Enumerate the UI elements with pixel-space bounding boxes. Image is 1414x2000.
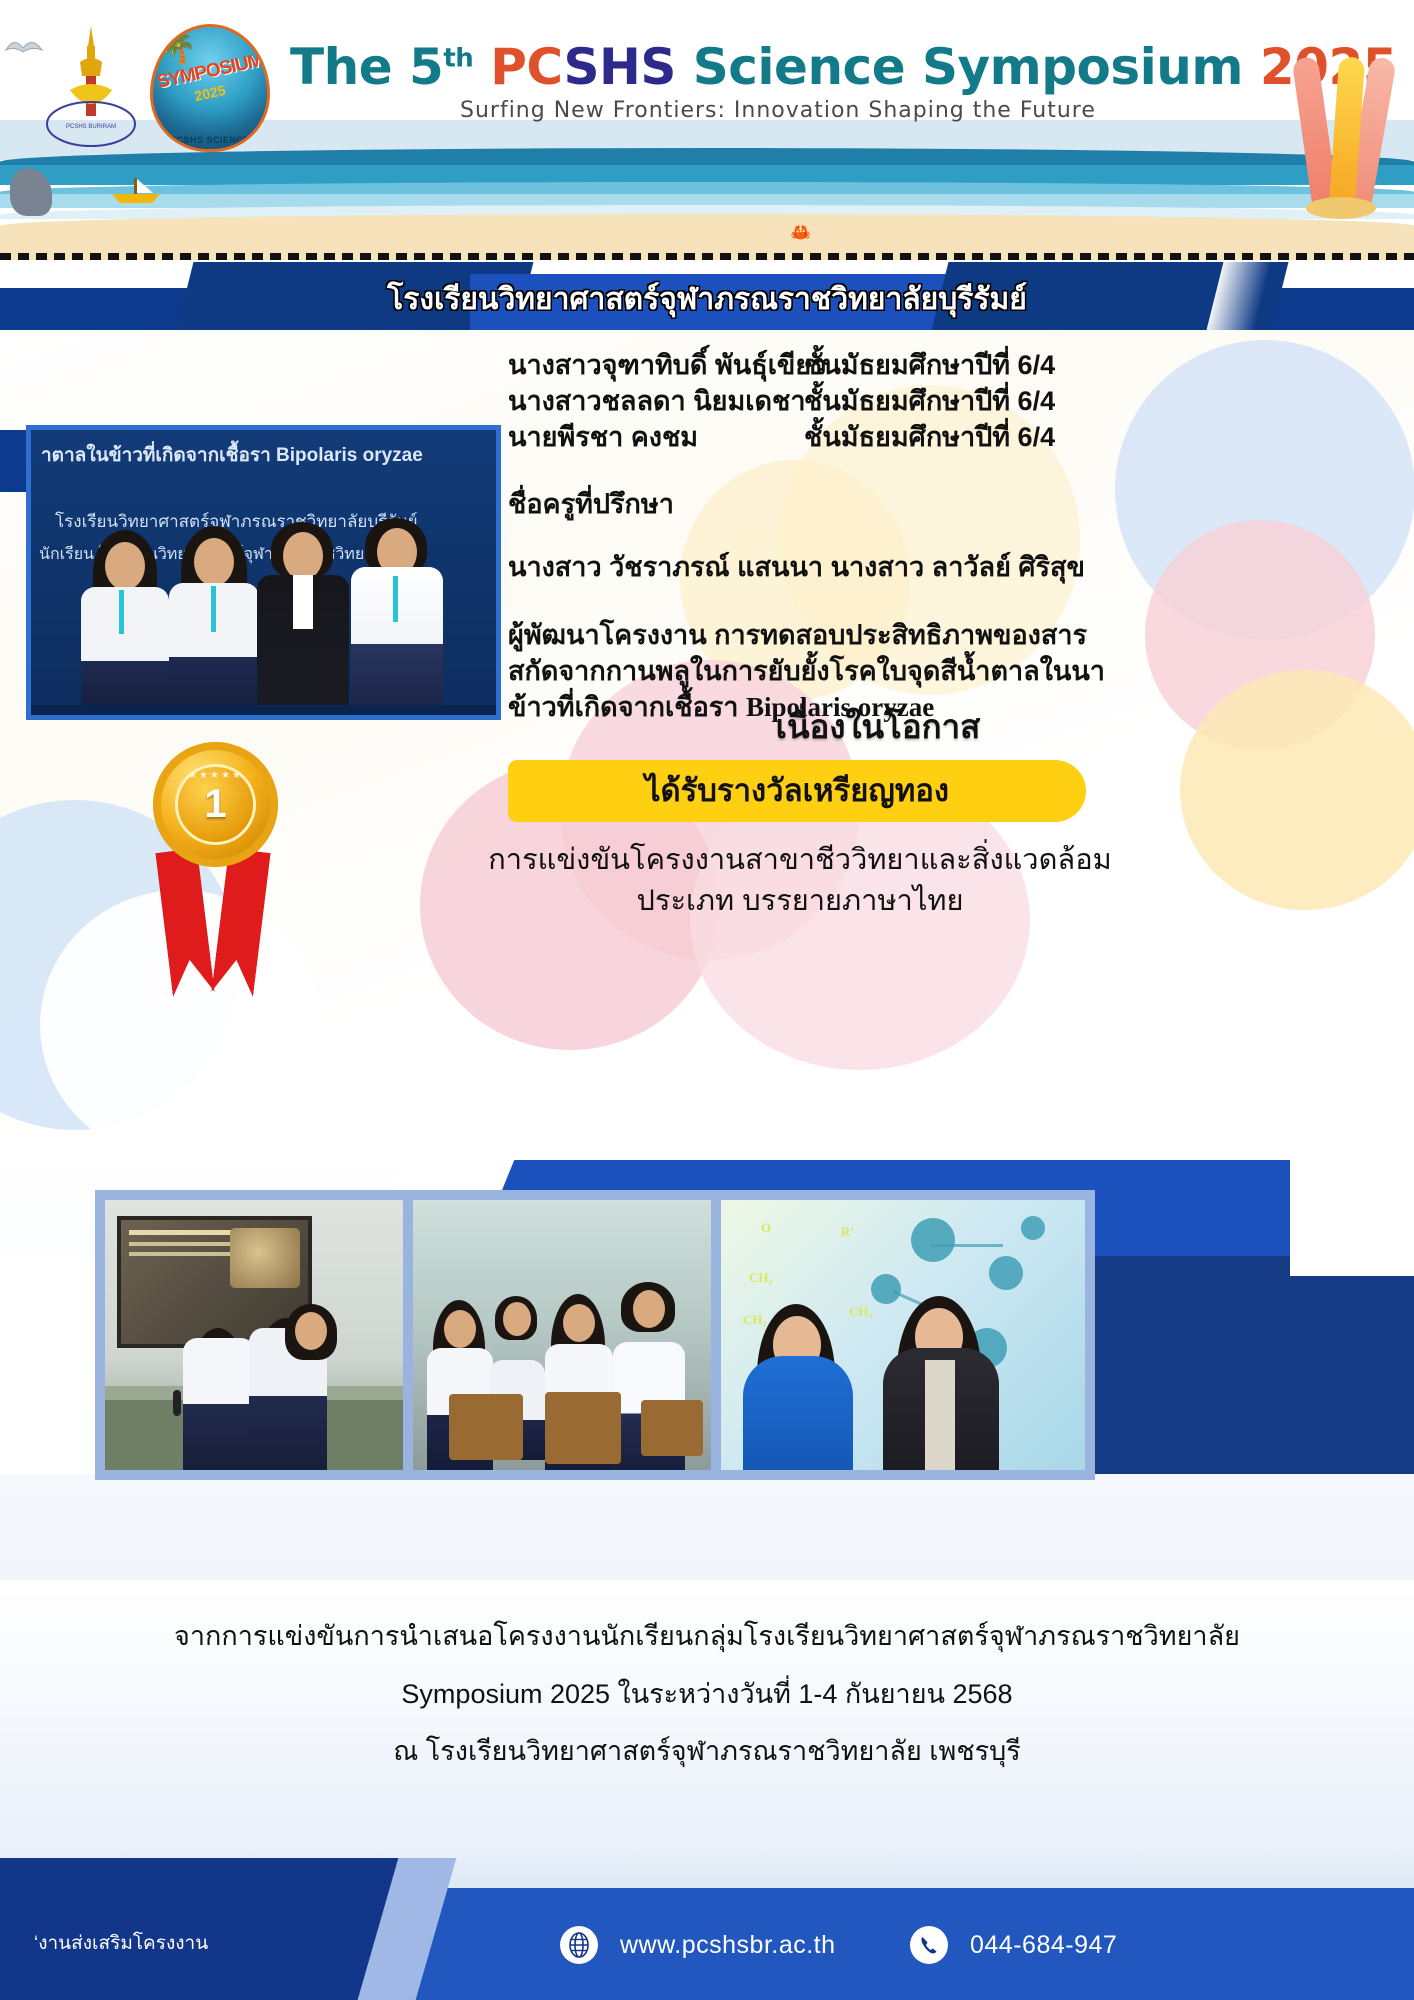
chem-label: CH₂ [749, 1270, 772, 1286]
classroom-desk-1 [449, 1394, 523, 1460]
classroom-desk-3 [641, 1400, 703, 1456]
caption-line-1: จากการแข่งขันการนำเสนอโครงงานนักเรียนกลุ… [0, 1622, 1414, 1652]
chem-label: O [761, 1220, 771, 1236]
molecule-node [989, 1256, 1023, 1290]
slide-text-line [129, 1252, 238, 1256]
contest-line-2: ประเภท บรรยายภาษาไทย [400, 881, 1200, 922]
molecule-bond [931, 1244, 1003, 1247]
team-photo-floor [31, 705, 496, 715]
chem-label: CH₃ [849, 1304, 872, 1320]
header-title-block: The 5th PCSHS Science Symposium 2025 Sur… [290, 38, 1190, 123]
footer-website-text: www.pcshsbr.ac.th [620, 1931, 836, 1960]
student-name: นายพีรชา คงชม [508, 420, 804, 456]
svg-text:PCSHS BURIRAM: PCSHS BURIRAM [66, 124, 116, 130]
crab-icon: 🦀 [790, 223, 811, 243]
globe-icon [560, 1926, 598, 1964]
header-tagline: Surfing New Frontiers: Innovation Shapin… [460, 98, 1190, 123]
student-grade: ชั้นมัธยมศึกษาปีที่ 6/4 [804, 420, 1055, 456]
royal-emblem-icon: PCSHS BURIRAM [36, 20, 146, 150]
footer-website[interactable]: www.pcshsbr.ac.th [560, 1926, 836, 1964]
student-grade: ชั้นมัธยมศึกษาปีที่ 6/4 [804, 384, 1055, 420]
header-banner: PCSHS BURIRAM 🌴 SYMPOSIUM 2025 PCSHS SCI… [0, 0, 1414, 260]
surfboard-sand-mound [1306, 197, 1376, 219]
gold-medal-banner: ได้รับรางวัลเหรียญทอง [508, 760, 1086, 822]
molecule-node [871, 1274, 901, 1304]
medal-ribbon-right [211, 848, 270, 997]
molecule-node [911, 1218, 955, 1262]
student-grade: ชั้นมัธยมศึกษาปีที่ 6/4 [804, 348, 1055, 384]
title-ordinal-suffix: th [443, 43, 473, 73]
surfboards-icon [1296, 44, 1386, 219]
classroom-desk-2 [545, 1392, 621, 1464]
project-line-2: สกัดจากกานพลูในการยับยั้งโรคใบจุดสีน้ำตา… [508, 654, 1148, 690]
molecule-node [1021, 1216, 1045, 1240]
team-photo: าตาลในข้าวที่เกิดจากเชื้อรา Bipolaris or… [26, 425, 501, 720]
caption-line-3: ณ โรงเรียนวิทยาศาสตร์จุฬาภรณราชวิทยาลัย … [0, 1737, 1414, 1767]
gold-medal-icon: 1 ★★★★★ [128, 742, 338, 1002]
advisor-names: นางสาว วัชราภรณ์ แสนนา นางสาว ลาวัลย์ ศิ… [508, 545, 1398, 588]
student-row: นางสาวชลลดา นิยมเดชา ชั้นมัธยมศึกษาปีที่… [508, 384, 1398, 420]
advisor-label: ชื่อครูที่ปรึกษา [508, 482, 1398, 525]
title-the5: The 5 [290, 38, 443, 96]
student-row: นางสาวจุฑาทิบดิ์ พันธุ์เขียว ชั้นมัธยมศึ… [508, 348, 1398, 384]
logo-bottom-text: PCSHS SCIENCE [153, 135, 267, 145]
footer: ‘งานส่งเสริมโครงงาน www.pcshsbr.ac.th 04… [0, 1848, 1414, 2000]
main-content-area: ขอแสดงความยินดี าตาลในข้าวที่เกิดจากเชื้… [0, 330, 1414, 1200]
footer-department-label: ‘งานส่งเสริมโครงงาน [34, 1928, 208, 1958]
main-title: The 5th PCSHS Science Symposium 2025 [290, 38, 1190, 96]
chem-label: R' [841, 1224, 854, 1240]
chem-label: CH₂ [743, 1312, 766, 1328]
title-science-symposium: Science Symposium [693, 38, 1243, 96]
congratulations-poster: PCSHS BURIRAM 🌴 SYMPOSIUM 2025 PCSHS SCI… [0, 0, 1414, 2000]
footer-phone-text: 044-684-947 [970, 1931, 1117, 1960]
student-name: นางสาวชลลดา นิยมเดชา [508, 384, 804, 420]
event-caption: จากการแข่งขันการนำเสนอโครงงานนักเรียนกลุ… [0, 1588, 1414, 1848]
slide-image [230, 1228, 300, 1288]
gallery-photo-teachers: O CH₂ CH₂ CH₃ CH₃ R' [711, 1190, 1095, 1480]
medal-ribbon-left [155, 848, 214, 997]
dashed-divider [0, 253, 1414, 260]
student-name: นางสาวจุฑาทิบดิ์ พันธุ์เขียว [508, 348, 804, 384]
photo-gallery-section: O CH₂ CH₂ CH₃ CH₃ R' [0, 1150, 1414, 1580]
boat-icon [108, 176, 164, 204]
student-row: นายพีรชา คงชม ชั้นมัธยมศึกษาปีที่ 6/4 [508, 420, 1398, 456]
contest-info: การแข่งขันโครงงานสาขาชีววิทยาและสิ่งแวดล… [400, 840, 1200, 922]
school-name-band: โรงเรียนวิทยาศาสตร์จุฬาภรณราชวิทยาลัยบุร… [0, 262, 1414, 330]
title-pc: PC [490, 38, 563, 96]
title-shs: SHS [563, 38, 675, 96]
school-name: โรงเรียนวิทยาศาสตร์จุฬาภรณราชวิทยาลัยบุร… [0, 276, 1414, 323]
details-column: นางสาวจุฑาทิบดิ์ พันธุ์เขียว ชั้นมัธยมศึ… [508, 348, 1398, 725]
project-line-1: ผู้พัฒนาโครงงาน การทดสอบประสิทธิภาพของสา… [508, 618, 1148, 654]
phone-icon [910, 1926, 948, 1964]
symposium-logo: 🌴 SYMPOSIUM 2025 PCSHS SCIENCE [150, 24, 270, 152]
caption-line-2: Symposium 2025 ในระหว่างวันที่ 1-4 กันยา… [0, 1680, 1414, 1710]
gold-medal-label: ได้รับรางวัลเหรียญทอง [508, 760, 1086, 822]
occasion-label: เนื่องในโอกาส [508, 700, 1248, 753]
medal-stars: ★★★★★ [175, 770, 256, 781]
teachers-photo: O CH₂ CH₂ CH₃ CH₃ R' [721, 1200, 1085, 1470]
backdrop-school-line: โรงเรียนวิทยาศาสตร์จุฬาภรณราชวิทยาลัยบุร… [55, 508, 418, 535]
palm-tree-icon: 🌴 [159, 31, 196, 66]
backdrop-title-line: าตาลในข้าวที่เกิดจากเชื้อรา Bipolaris or… [41, 440, 423, 470]
gallery-right-cut [1290, 1160, 1414, 1276]
footer-phone[interactable]: 044-684-947 [910, 1926, 1117, 1964]
contest-line-1: การแข่งขันโครงงานสาขาชีววิทยาและสิ่งแวดล… [400, 840, 1200, 881]
